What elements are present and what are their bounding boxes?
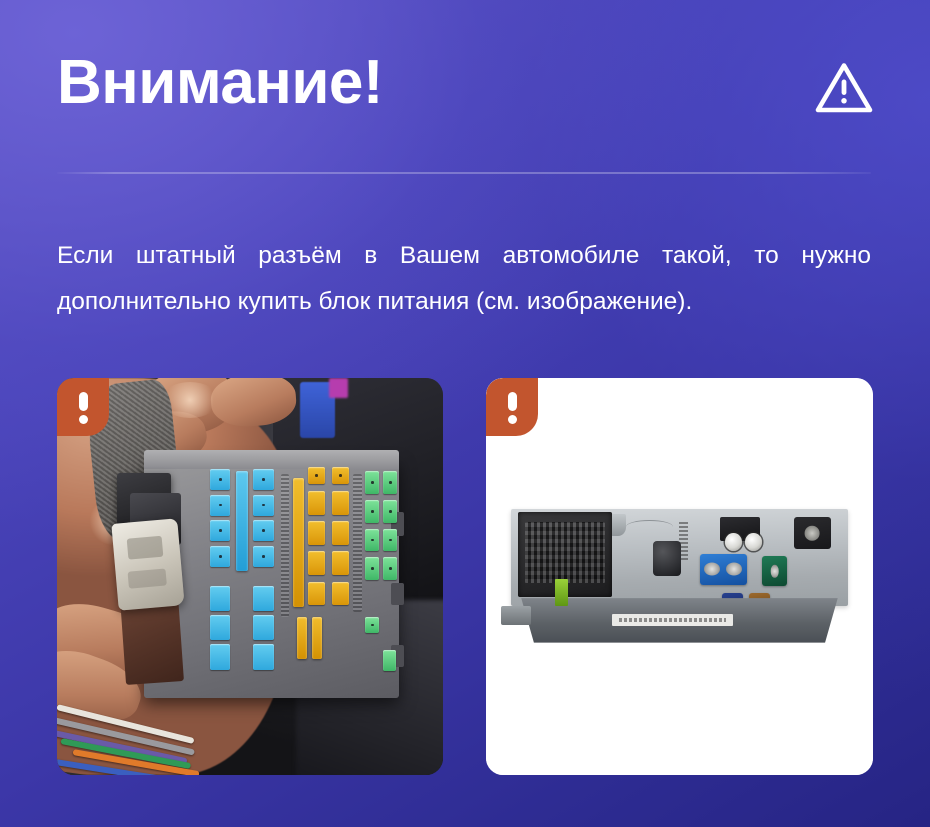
body-line-1: Если штатный разъём в Вашем автомобиле т… bbox=[57, 233, 871, 279]
warning-slide: Внимание! Если штатный разъём в Вашем ав… bbox=[0, 0, 930, 827]
exclamation-icon bbox=[508, 392, 517, 422]
body-text: Если штатный разъём в Вашем автомобиле т… bbox=[57, 233, 871, 325]
rca-jack bbox=[725, 533, 742, 551]
power-supply-unit bbox=[511, 509, 848, 644]
image-gallery bbox=[57, 378, 873, 775]
screw-pad bbox=[794, 517, 831, 549]
white-clip bbox=[111, 518, 184, 611]
fakra-blue bbox=[700, 554, 747, 585]
body-line-2: дополнительно купить блок питания (см. и… bbox=[57, 279, 871, 325]
knob bbox=[653, 541, 682, 576]
exclamation-badge bbox=[486, 378, 538, 436]
connector-photo-image bbox=[57, 378, 443, 775]
rca-jack bbox=[745, 533, 762, 551]
product-label bbox=[612, 614, 733, 626]
header-divider bbox=[57, 172, 871, 174]
warning-triangle-icon bbox=[813, 58, 875, 120]
wire-bundle bbox=[57, 652, 250, 775]
power-supply-photo-image bbox=[486, 378, 873, 775]
exclamation-icon bbox=[79, 392, 88, 422]
fakra-green bbox=[762, 556, 787, 586]
power-supply-photo-card[interactable] bbox=[486, 378, 873, 775]
page-title: Внимание! bbox=[57, 52, 383, 114]
exclamation-badge bbox=[57, 378, 109, 436]
connector-photo-card[interactable] bbox=[57, 378, 443, 775]
header: Внимание! bbox=[57, 50, 875, 142]
